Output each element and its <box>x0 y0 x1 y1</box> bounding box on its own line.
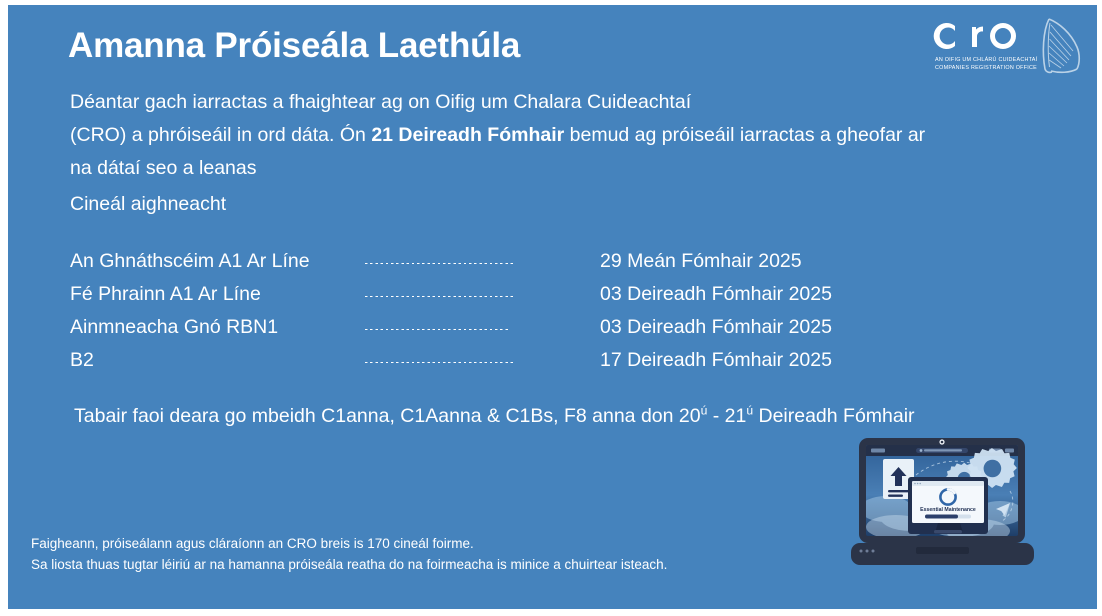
dot-leader-icon <box>365 263 515 264</box>
intro-line-2-suffix: bemud ag próiseáil iarractas a gheofar a… <box>564 124 925 146</box>
irish-harp-icon <box>1037 13 1087 77</box>
intro-line-3: na dátaí seo a leanas <box>70 152 1030 185</box>
trackpad <box>916 547 969 554</box>
row-leader-dots <box>365 344 600 377</box>
row-date-value: 29 Meán Fómhair 2025 <box>600 245 930 278</box>
row-type-label: Ainmneacha Gnó RBN1 <box>70 311 365 344</box>
cro-subtitle-irish: AN OIFIG UM CHLÁRÚ CUIDEACHTAÍ <box>935 56 1039 64</box>
cro-logo: AN OIFIG UM CHLÁRÚ CUIDEACHTAÍ COMPANIES… <box>933 13 1089 79</box>
row-type-label: B2 <box>70 344 365 377</box>
table-row: B2 17 Deireadh Fómhair 2025 <box>70 344 930 377</box>
intro-line-1: Déantar gach iarractas a fhaightear ag o… <box>70 86 1030 119</box>
note-line: Tabair faoi deara go mbeidh C1anna, C1Aa… <box>74 405 915 428</box>
webcam-lens <box>941 441 944 444</box>
row-type-label: Fé Phrainn A1 Ar Líne <box>70 278 365 311</box>
slide-canvas: Amanna Próiseála Laethúla Déantar gach i… <box>8 5 1097 609</box>
table-row: Fé Phrainn A1 Ar Líne 03 Deireadh Fómhai… <box>70 278 930 311</box>
row-date-value: 03 Deireadh Fómhair 2025 <box>600 278 930 311</box>
maintenance-dialog-title: Essential Maintenance <box>920 507 976 513</box>
note-middle: - 21 <box>707 405 746 427</box>
base-indicator-lights <box>860 550 875 553</box>
footer-line-1: Faigheann, próiseálann agus cláraíonn an… <box>31 533 667 554</box>
note-prefix: Tabair faoi deara go mbeidh C1anna, C1Aa… <box>74 405 701 427</box>
intro-effective-date: 21 Deireadh Fómhair <box>371 124 564 146</box>
intro-paragraph: Déantar gach iarractas a fhaightear ag o… <box>70 86 1030 185</box>
page-title: Amanna Próiseála Laethúla <box>68 26 520 66</box>
gear-hub <box>984 460 1002 478</box>
dot-leader-icon <box>365 296 515 297</box>
table-row: An Ghnáthscéim A1 Ar Líne 29 Meán Fómhai… <box>70 245 930 278</box>
processing-times-table: An Ghnáthscéim A1 Ar Líne 29 Meán Fómhai… <box>70 245 930 377</box>
row-type-label: An Ghnáthscéim A1 Ar Líne <box>70 245 365 278</box>
intro-line-2: (CRO) a phróiseáil in ord dáta. Ón 21 De… <box>70 119 1030 152</box>
progress-fill <box>925 515 958 519</box>
section-heading-submission-type: Cineál aighneacht <box>70 193 226 216</box>
laptop-illustration: Essential Maintenance <box>850 435 1075 580</box>
row-date-value: 17 Deireadh Fómhair 2025 <box>600 344 930 377</box>
inner-monitor: Essential Maintenance <box>908 477 988 534</box>
dot-leader-icon <box>365 362 515 363</box>
note-suffix: Deireadh Fómhair <box>753 405 914 427</box>
intro-line-2-prefix: (CRO) a phróiseáil in ord dáta. Ón <box>70 124 371 146</box>
row-leader-dots <box>365 278 600 311</box>
cro-logo-subtitle: AN OIFIG UM CHLÁRÚ CUIDEACHTAÍ COMPANIES… <box>935 56 1039 72</box>
cro-wordmark-icon <box>933 16 1033 56</box>
row-leader-dots <box>365 245 600 278</box>
row-leader-dots <box>365 311 600 344</box>
cro-subtitle-english: COMPANIES REGISTRATION OFFICE <box>935 64 1039 72</box>
footer-line-2: Sa liosta thuas tugtar léiriú ar na hama… <box>31 554 667 575</box>
dot-leader-icon <box>365 329 508 330</box>
footer-note: Faigheann, próiseálann agus cláraíonn an… <box>31 533 667 575</box>
table-row: Ainmneacha Gnó RBN1 03 Deireadh Fómhair … <box>70 311 930 344</box>
row-date-value: 03 Deireadh Fómhair 2025 <box>600 311 930 344</box>
